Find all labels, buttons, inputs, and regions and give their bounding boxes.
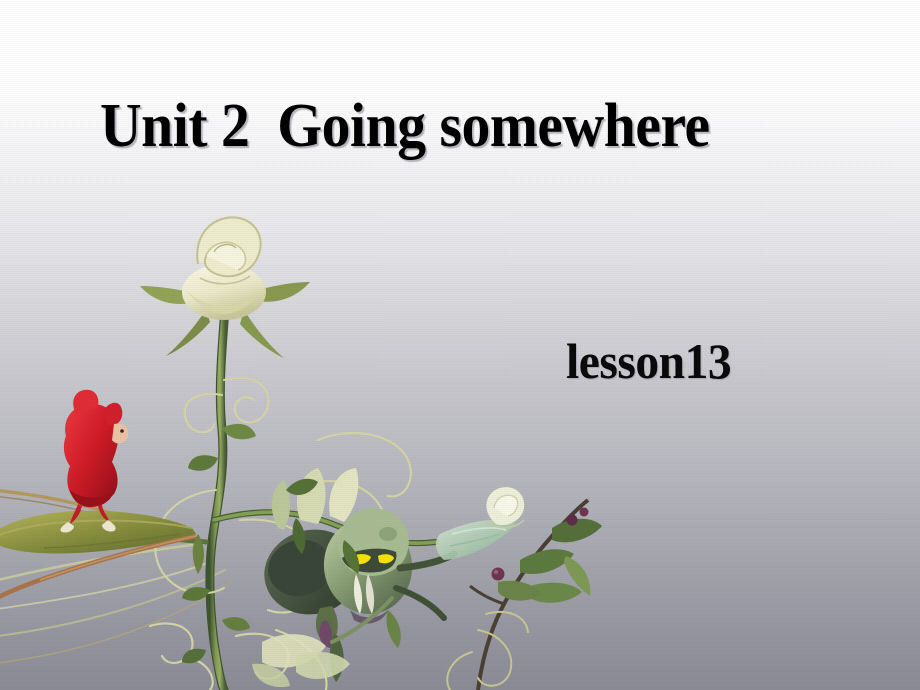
presentation-slide: Unit 2 Going somewhere lesson13 (0, 0, 920, 690)
leaf-branch (0, 511, 204, 602)
thorny-vine (60, 308, 436, 690)
side-bud-branch (447, 487, 602, 690)
lesson-number-label: lesson13 (566, 332, 731, 390)
slide-title: Unit 2 Going somewhere (100, 94, 807, 159)
fantasy-vine-illustration (0, 190, 620, 690)
